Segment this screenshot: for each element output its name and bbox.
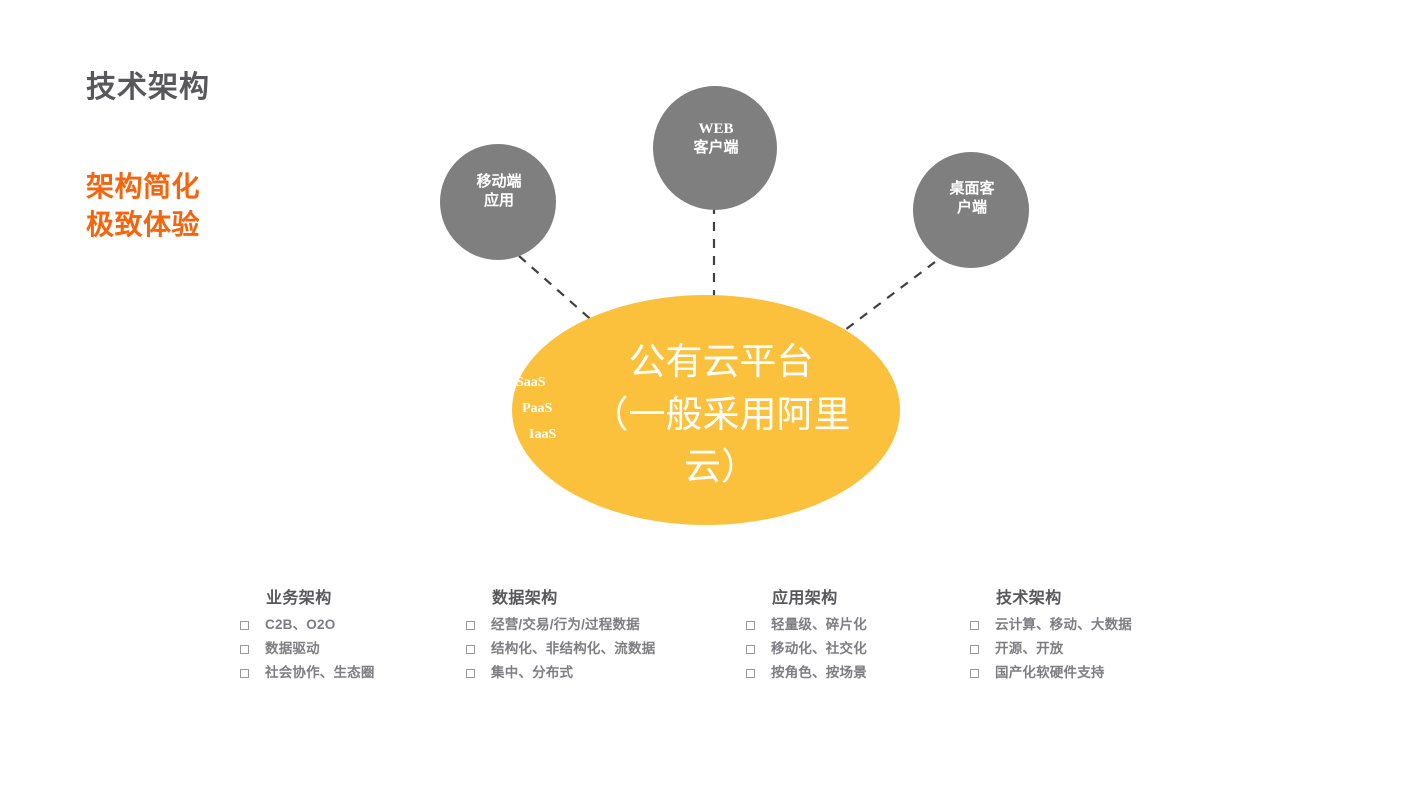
- square-bullet-icon: [746, 645, 755, 654]
- list-item-label: 移动化、社交化: [771, 641, 867, 658]
- list-item-label: 集中、分布式: [491, 665, 573, 682]
- column-header: 数据架构: [492, 584, 655, 608]
- list-item-label: 经营/交易/行为/过程数据: [491, 617, 640, 634]
- list-item-label: 开源、开放: [995, 641, 1064, 658]
- column-application-architecture: 应用架构 轻量级、碎片化 移动化、社交化 按角色、按场景: [746, 584, 867, 689]
- square-bullet-icon: [466, 621, 475, 630]
- column-header: 技术架构: [996, 584, 1132, 608]
- list-item[interactable]: C2B、O2O: [240, 617, 375, 634]
- list-item-label: 数据驱动: [265, 641, 320, 658]
- slide-canvas: 技术架构 架构简化 极致体验 移动端 应用 WEB 客户端 桌面客 户端 公有云…: [0, 0, 1416, 791]
- list-item[interactable]: 开源、开放: [970, 641, 1132, 658]
- list-item[interactable]: 轻量级、碎片化: [746, 617, 867, 634]
- square-bullet-icon: [466, 645, 475, 654]
- square-bullet-icon: [746, 621, 755, 630]
- column-header: 应用架构: [772, 584, 867, 608]
- list-item[interactable]: 国产化软硬件支持: [970, 665, 1132, 682]
- architecture-columns: 业务架构 C2B、O2O 数据驱动 社会协作、生态圈 数据架构 经营/交易/行为…: [0, 584, 1416, 704]
- mobile-client-circle[interactable]: [440, 144, 556, 260]
- list-item-label: 按角色、按场景: [771, 665, 867, 682]
- square-bullet-icon: [466, 669, 475, 678]
- desktop-client-circle[interactable]: [913, 152, 1029, 268]
- column-business-architecture: 业务架构 C2B、O2O 数据驱动 社会协作、生态圈: [240, 584, 375, 689]
- list-item[interactable]: 社会协作、生态圈: [240, 665, 375, 682]
- connector-desktop-to-cloud: [845, 262, 935, 330]
- square-bullet-icon: [240, 621, 249, 630]
- list-item[interactable]: 移动化、社交化: [746, 641, 867, 658]
- list-item-label: 结构化、非结构化、流数据: [491, 641, 655, 658]
- connector-mobile-to-cloud: [519, 256, 596, 324]
- square-bullet-icon: [746, 669, 755, 678]
- list-item[interactable]: 结构化、非结构化、流数据: [466, 641, 655, 658]
- list-item[interactable]: 按角色、按场景: [746, 665, 867, 682]
- list-item[interactable]: 云计算、移动、大数据: [970, 617, 1132, 634]
- list-item-label: 国产化软硬件支持: [995, 665, 1105, 682]
- list-item-label: 轻量级、碎片化: [771, 617, 867, 634]
- square-bullet-icon: [240, 645, 249, 654]
- column-header: 业务架构: [266, 584, 375, 608]
- web-client-circle[interactable]: [653, 86, 777, 210]
- column-data-architecture: 数据架构 经营/交易/行为/过程数据 结构化、非结构化、流数据 集中、分布式: [466, 584, 655, 689]
- list-item-label: C2B、O2O: [265, 617, 335, 634]
- list-item-label: 社会协作、生态圈: [265, 665, 375, 682]
- list-item[interactable]: 经营/交易/行为/过程数据: [466, 617, 655, 634]
- list-item-label: 云计算、移动、大数据: [995, 617, 1132, 634]
- list-item[interactable]: 数据驱动: [240, 641, 375, 658]
- column-technology-architecture: 技术架构 云计算、移动、大数据 开源、开放 国产化软硬件支持: [970, 584, 1132, 689]
- list-item[interactable]: 集中、分布式: [466, 665, 655, 682]
- square-bullet-icon: [970, 621, 979, 630]
- square-bullet-icon: [970, 645, 979, 654]
- square-bullet-icon: [240, 669, 249, 678]
- square-bullet-icon: [970, 669, 979, 678]
- public-cloud-ellipse[interactable]: [512, 295, 900, 525]
